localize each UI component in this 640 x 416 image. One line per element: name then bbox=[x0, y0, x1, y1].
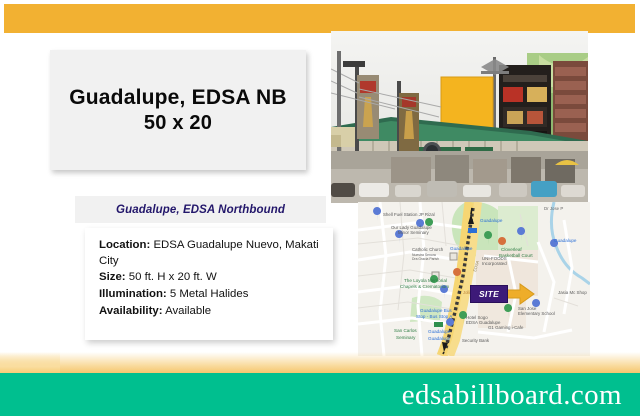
svg-text:Dra Gracia Parish: Dra Gracia Parish bbox=[412, 257, 439, 261]
title-card-text: Guadalupe, EDSA NB 50 x 20 bbox=[69, 85, 287, 135]
svg-text:Jasia Mc Shop: Jasia Mc Shop bbox=[558, 290, 587, 295]
detail-label-size: Size: bbox=[99, 271, 126, 283]
svg-text:Security Bank: Security Bank bbox=[462, 338, 490, 343]
details-panel: Location: EDSA Guadalupe Nuevo, Makati C… bbox=[85, 228, 333, 340]
detail-label-availability: Availability: bbox=[99, 305, 163, 317]
footer-website: edsabillboard.com bbox=[182, 375, 622, 415]
top-orange-band bbox=[4, 4, 635, 33]
svg-text:The Loyola Memorial: The Loyola Memorial bbox=[404, 278, 447, 283]
details-header-label: Guadalupe, EDSA Northbound bbox=[116, 204, 285, 216]
svg-text:Guadalupe: Guadalupe bbox=[480, 218, 503, 223]
svg-text:Cloverleaf: Cloverleaf bbox=[501, 247, 522, 252]
title-line-1: Guadalupe, EDSA NB bbox=[69, 85, 287, 111]
billboard-photo bbox=[331, 31, 588, 203]
svg-text:Minor Seminary: Minor Seminary bbox=[398, 230, 430, 235]
site-marker: SITE bbox=[470, 285, 508, 303]
location-map[interactable]: Shell Fuel Station JP Rizal Our Lady Gua… bbox=[358, 202, 590, 356]
detail-label-illumination: Illumination: bbox=[99, 288, 167, 300]
svg-text:Basketball Court: Basketball Court bbox=[499, 253, 533, 258]
svg-text:Guadalupe Bus: Guadalupe Bus bbox=[420, 308, 452, 313]
detail-label-location: Location: bbox=[99, 239, 150, 251]
detail-row-illumination: Illumination: 5 Metal Halides bbox=[99, 287, 321, 303]
svg-text:Shell Fuel Station JP Rizal: Shell Fuel Station JP Rizal bbox=[383, 212, 435, 217]
title-line-2: 50 x 20 bbox=[69, 111, 287, 135]
bottom-left-fade bbox=[0, 352, 60, 373]
detail-row-availability: Availability: Available bbox=[99, 304, 321, 320]
svg-text:Guadalupe: Guadalupe bbox=[428, 329, 451, 334]
detail-value-illumination: 5 Metal Halides bbox=[170, 288, 249, 300]
svg-text:Stop - Bus Stop A: Stop - Bus Stop A bbox=[416, 314, 453, 319]
details-header: Guadalupe, EDSA Northbound bbox=[75, 196, 326, 223]
svg-text:Catholic Church: Catholic Church bbox=[412, 247, 444, 252]
site-marker-label: SITE bbox=[479, 289, 499, 299]
title-card: Guadalupe, EDSA NB 50 x 20 bbox=[50, 50, 306, 170]
detail-value-size: 50 ft. H x 20 ft. W bbox=[129, 271, 217, 283]
svg-text:Dr Jose P: Dr Jose P bbox=[544, 206, 563, 211]
svg-text:G1 Gaming i-Cafe: G1 Gaming i-Cafe bbox=[488, 325, 524, 330]
bottom-fade-gradient bbox=[0, 352, 640, 373]
slide-root: Guadalupe, EDSA NB 50 x 20 Guadalupe, ED… bbox=[0, 0, 640, 416]
svg-text:Chapels & Crematorium: Chapels & Crematorium bbox=[400, 284, 449, 289]
svg-text:San Carlos: San Carlos bbox=[394, 328, 417, 333]
svg-text:Guadalupe: Guadalupe bbox=[450, 246, 473, 251]
detail-value-availability: Available bbox=[165, 305, 211, 317]
svg-text:Seminary: Seminary bbox=[396, 335, 416, 340]
svg-text:Incorporated: Incorporated bbox=[482, 261, 507, 266]
detail-row-location: Location: EDSA Guadalupe Nuevo, Makati C… bbox=[99, 238, 321, 269]
detail-row-size: Size: 50 ft. H x 20 ft. W bbox=[99, 270, 321, 286]
svg-text:Guadalupe: Guadalupe bbox=[554, 238, 577, 243]
svg-text:Elementary School: Elementary School bbox=[518, 311, 555, 316]
svg-text:Guadalupe: Guadalupe bbox=[428, 336, 451, 341]
